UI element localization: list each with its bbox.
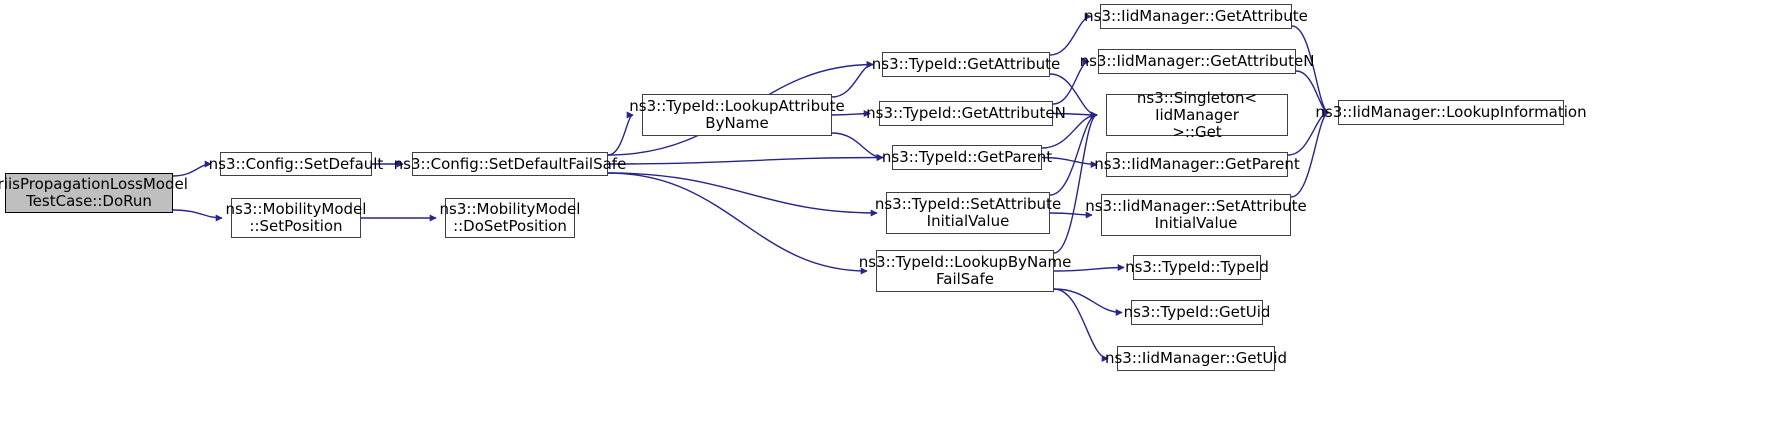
edge-setdefaultfs-to-tid_getparent — [608, 158, 883, 165]
call-graph-diagram: FriisPropagationLossModel TestCase::DoRu… — [0, 0, 1780, 424]
graph-node-lookupinfo[interactable]: ns3::IidManager::LookupInformation — [1338, 100, 1564, 125]
graph-node-tid_setattrinit[interactable]: ns3::TypeId::SetAttribute InitialValue — [886, 192, 1050, 234]
edge-setdefaultfs-to-tid_lookupbyname — [608, 173, 867, 271]
edge-setdefaultfs-to-tid_setattrinit — [608, 173, 877, 213]
edge-lookupattrbyname-to-tid_getattr — [832, 65, 873, 98]
graph-node-root[interactable]: FriisPropagationLossModel TestCase::DoRu… — [5, 173, 173, 213]
graph-node-iid_getparent[interactable]: ns3::IidManager::GetParent — [1106, 152, 1288, 177]
graph-node-tid_typeid[interactable]: ns3::TypeId::TypeId — [1133, 255, 1261, 280]
edge-root-to-setposition — [173, 210, 222, 218]
edge-tid_lookupbyname-to-singleton_get — [1054, 115, 1097, 253]
graph-node-iid_getattr[interactable]: ns3::IidManager::GetAttribute — [1100, 4, 1292, 29]
graph-node-tid_getparent[interactable]: ns3::TypeId::GetParent — [892, 145, 1042, 170]
edge-tid_lookupbyname-to-iid_getuid — [1054, 289, 1108, 359]
graph-node-tid_lookupbyname[interactable]: ns3::TypeId::LookupByName FailSafe — [876, 250, 1054, 292]
graph-node-singleton_get[interactable]: ns3::Singleton< IidManager >::Get — [1106, 94, 1288, 136]
graph-node-lookupattrbyname[interactable]: ns3::TypeId::LookupAttribute ByName — [642, 94, 832, 136]
graph-node-dosetposition[interactable]: ns3::MobilityModel ::DoSetPosition — [445, 198, 575, 238]
edge-lookupattrbyname-to-tid_getparent — [832, 133, 883, 158]
graph-node-tid_getattr[interactable]: ns3::TypeId::GetAttribute — [882, 52, 1050, 77]
graph-node-iid_setattrinit[interactable]: ns3::IidManager::SetAttribute InitialVal… — [1101, 194, 1291, 236]
graph-node-iid_getattrn[interactable]: ns3::IidManager::GetAttributeN — [1098, 49, 1296, 74]
graph-node-tid_getattrn[interactable]: ns3::TypeId::GetAttributeN — [879, 101, 1053, 126]
graph-node-tid_getuid[interactable]: ns3::TypeId::GetUid — [1131, 300, 1263, 325]
graph-node-iid_getuid[interactable]: ns3::IidManager::GetUid — [1117, 346, 1275, 371]
graph-node-setdefaultfs[interactable]: ns3::Config::SetDefaultFailSafe — [412, 152, 608, 176]
graph-node-setposition[interactable]: ns3::MobilityModel ::SetPosition — [231, 198, 361, 238]
graph-node-setdefault[interactable]: ns3::Config::SetDefault — [220, 152, 372, 176]
